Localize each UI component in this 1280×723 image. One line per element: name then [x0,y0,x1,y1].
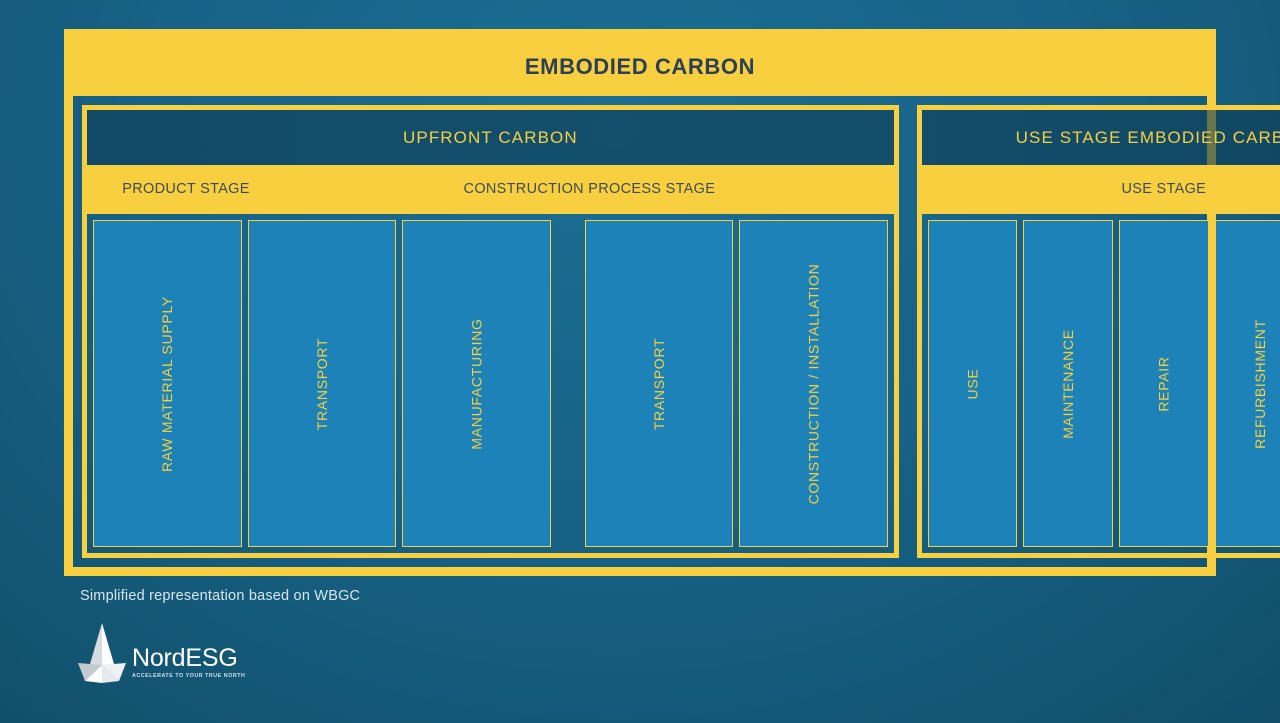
bars-upfront: RAW MATERIAL SUPPLY TRANSPORT MANUFACTUR… [87,214,894,553]
logo-wordmark: NordESG [132,646,245,671]
bar-label: MAINTENANCE [1060,329,1076,439]
bar-repair[interactable]: REPAIR [1119,220,1209,547]
stage-label-use-stage: USE STAGE [922,181,1280,197]
bar-transport-construction[interactable]: TRANSPORT [585,220,734,547]
bar-label: REPAIR [1156,356,1172,411]
bar-use[interactable]: USE [928,220,1018,547]
bar-manufacturing[interactable]: MANUFACTURING [402,220,551,547]
bar-maintenance[interactable]: MAINTENANCE [1023,220,1113,547]
bar-label: RAW MATERIAL SUPPLY [159,296,175,472]
bar-label: REFURBISHMENT [1251,319,1267,449]
bar-raw-material-supply[interactable]: RAW MATERIAL SUPPLY [93,220,242,547]
groups-row: UPFRONT CARBON PRODUCT STAGE CONSTRUCTIO… [82,105,1198,558]
bar-label: CONSTRUCTION / INSTALLATION [805,263,821,504]
source-note: Simplified representation based on WBGC [80,588,360,604]
stage-label-construction-process: CONSTRUCTION PROCESS STAGE [285,181,894,197]
bar-refurbishment[interactable]: REFURBISHMENT [1215,220,1280,547]
bar-label: TRANSPORT [651,337,667,429]
group-header-label: USE STAGE EMBODIED CARBON [1016,128,1280,148]
page-title: EMBODIED CARBON [525,54,755,80]
bars-use: USE MAINTENANCE REPAIR REFURBISHMENT REP… [922,214,1280,553]
bar-transport-product[interactable]: TRANSPORT [248,220,397,547]
group-use-stage-embodied-carbon: USE STAGE EMBODIED CARBON USE STAGE USE … [917,105,1280,558]
logo-text-wrap: NordESG ACCELERATE TO YOUR TRUE NORTH [132,646,245,683]
group-header-upfront: UPFRONT CARBON [87,110,894,165]
stage-band-use: USE STAGE [922,165,1280,214]
compass-arrow-icon [76,621,128,683]
bar-label: MANUFACTURING [468,318,484,449]
embodied-carbon-diagram: EMBODIED CARBON UPFRONT CARBON PRODUCT S… [64,29,1216,576]
bar-label: USE [965,368,981,399]
stage-band-upfront: PRODUCT STAGE CONSTRUCTION PROCESS STAGE [87,165,894,214]
stage-label-product: PRODUCT STAGE [87,181,285,197]
group-header-use-stage: USE STAGE EMBODIED CARBON [922,110,1280,165]
group-upfront-carbon: UPFRONT CARBON PRODUCT STAGE CONSTRUCTIO… [82,105,899,558]
bar-construction-installation[interactable]: CONSTRUCTION / INSTALLATION [739,220,888,547]
diagram-title-band: EMBODIED CARBON [73,38,1207,96]
group-header-label: UPFRONT CARBON [403,128,578,148]
nordesg-logo: NordESG ACCELERATE TO YOUR TRUE NORTH [76,621,245,683]
bar-label: TRANSPORT [314,337,330,429]
bars-spacer [557,220,579,547]
logo-tagline: ACCELERATE TO YOUR TRUE NORTH [132,673,245,679]
